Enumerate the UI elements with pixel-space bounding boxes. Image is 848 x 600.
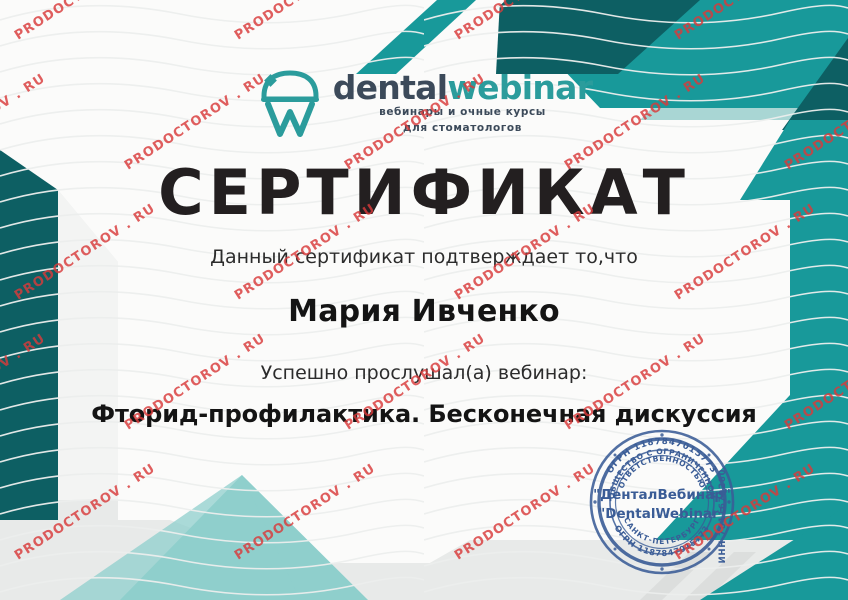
attendance-line: Успешно прослушал(а) вебинар: (261, 362, 588, 384)
logo-wordmark: dentalwebinar (333, 71, 593, 104)
recipient-name: Мария Ивченко (288, 294, 560, 329)
certificate-title: СЕРТИФИКАТ (158, 162, 690, 224)
webinar-title: Фторид-профилактика. Бесконечная дискусс… (91, 400, 756, 428)
seal-name-en: "DentalWebinar" (598, 506, 725, 522)
seal-stamp-icon: ОГРН 1187847015773 ОГРН 1187847015773 ОБ… (588, 428, 736, 576)
certificate-subtitle: Данный сертификат подтверждает то,что (210, 246, 638, 268)
logo-tagline-line1: вебинары и очные курсы (333, 106, 593, 119)
tooth-w-logo-icon (256, 66, 324, 140)
logo-word-dental: dental (333, 68, 448, 107)
official-seal: ОГРН 1187847015773 ОГРН 1187847015773 ОБ… (588, 428, 736, 576)
logo-word-webinar: webinar (447, 68, 592, 107)
logo-text-block: dentalwebinar вебинары и очные курсы для… (333, 71, 593, 134)
certificate-page: dentalwebinar вебинары и очные курсы для… (0, 0, 848, 600)
brand-logo: dentalwebinar вебинары и очные курсы для… (256, 66, 593, 140)
seal-name-ru: "ДенталВебинар" (593, 487, 731, 503)
logo-tagline-line2: для стоматологов (333, 122, 593, 135)
